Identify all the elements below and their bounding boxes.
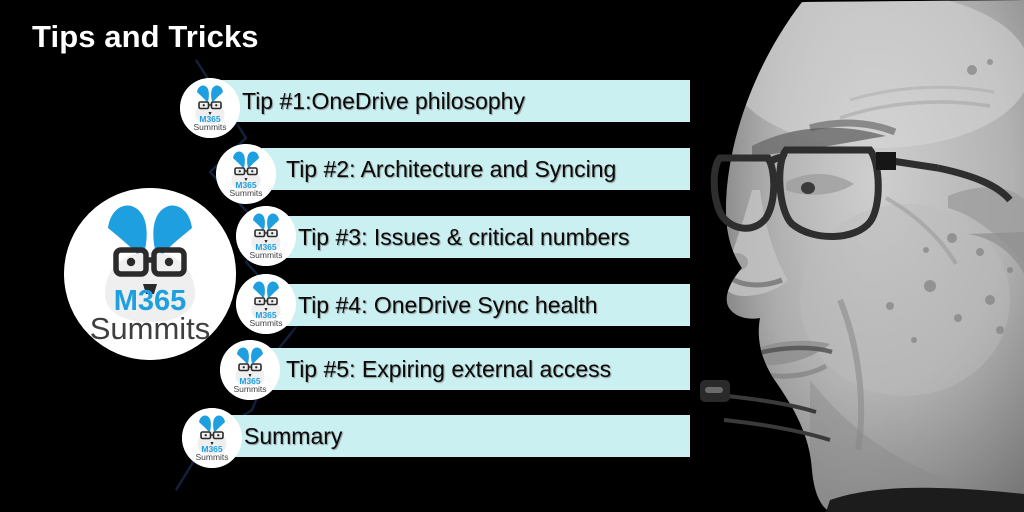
svg-text:Summits: Summits xyxy=(90,311,211,346)
agenda-bar-6-label: Summary xyxy=(244,415,342,457)
badge-logo-3[interactable]: M365 Summits xyxy=(236,206,296,266)
svg-text:Summits: Summits xyxy=(233,384,266,394)
svg-text:Summits: Summits xyxy=(195,452,228,462)
speaker-portrait xyxy=(690,0,1024,512)
agenda-bar-4-label: Tip #4: OneDrive Sync health xyxy=(298,284,598,326)
agenda-bar-5-label: Tip #5: Expiring external access xyxy=(286,348,611,390)
badge-logo-1[interactable]: M365 Summits xyxy=(180,78,240,138)
page-title: Tips and Tricks xyxy=(32,17,259,57)
agenda-bar-2[interactable]: Tip #2: Architecture and Syncing xyxy=(262,148,704,190)
badge-logo-6[interactable]: M365 Summits xyxy=(182,408,242,468)
badge-logo-5[interactable]: M365 Summits xyxy=(220,340,280,400)
agenda-bar-6[interactable]: Summary xyxy=(222,415,704,457)
badge-logo-2[interactable]: M365 Summits xyxy=(216,144,276,204)
agenda-bar-1[interactable]: Tip #1:OneDrive philosophy xyxy=(220,80,704,122)
svg-text:Summits: Summits xyxy=(229,188,262,198)
svg-text:Summits: Summits xyxy=(193,122,226,132)
agenda-bar-3[interactable]: Tip #3: Issues & critical numbers xyxy=(276,216,704,258)
agenda-bar-5[interactable]: Tip #5: Expiring external access xyxy=(262,348,704,390)
svg-text:Summits: Summits xyxy=(249,250,282,260)
brand-logo[interactable]: M365 Summits xyxy=(64,188,236,360)
agenda-bar-4[interactable]: Tip #4: OneDrive Sync health xyxy=(276,284,704,326)
svg-text:Summits: Summits xyxy=(249,318,282,328)
agenda-bar-3-label: Tip #3: Issues & critical numbers xyxy=(298,216,630,258)
agenda-bar-1-label: Tip #1:OneDrive philosophy xyxy=(242,80,525,122)
agenda-bar-2-label: Tip #2: Architecture and Syncing xyxy=(286,148,616,190)
badge-logo-4[interactable]: M365 Summits xyxy=(236,274,296,334)
slide-canvas: Tips and Tricks Tip #1:OneDrive philosop… xyxy=(0,0,1024,512)
